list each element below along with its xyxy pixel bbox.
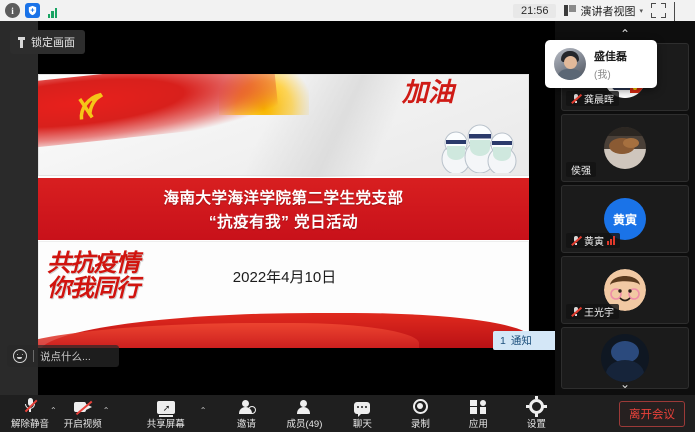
notification-tag[interactable]: 1 通知 xyxy=(493,331,555,350)
calligraphy-artwork: 共抗疫情 你我同行 xyxy=(47,250,185,326)
system-tray: i xyxy=(0,3,60,18)
participant-nameplate: 黄寅 xyxy=(566,233,620,248)
participants-icon xyxy=(296,398,312,414)
scroll-down-icon[interactable]: ⌄ xyxy=(612,377,638,391)
clock: 21:56 xyxy=(513,4,557,18)
video-options-caret-icon[interactable]: ⌃ xyxy=(103,406,110,415)
shield-icon[interactable] xyxy=(25,3,40,18)
toolbar-center-group: ➚ 共享屏幕 ⌃ 邀请 成员(49) 聊天 xyxy=(144,398,559,430)
self-participant-tooltip: 盛佳磊 (我) xyxy=(545,40,657,88)
share-screen-label: 共享屏幕 xyxy=(147,416,185,430)
participants-button[interactable]: 成员(49) xyxy=(282,398,326,430)
avatar xyxy=(604,127,646,169)
slide-title-band: 海南大学海洋学院第二学生党支部 “抗疫有我” 党日活动 xyxy=(38,178,529,240)
participant-tile[interactable]: 王光宇 xyxy=(561,256,689,324)
chat-label: 聊天 xyxy=(353,416,372,430)
top-system-bar: i 21:56 演讲者视图 ▾ xyxy=(0,0,695,21)
participant-name: 黄寅 xyxy=(584,233,604,248)
invite-button[interactable]: 邀请 xyxy=(224,398,268,430)
notification-label: 通知 xyxy=(511,333,532,348)
toolbar-left-group: 解除静音 ⌃ 开启视频 ⌃ xyxy=(0,398,113,430)
record-button[interactable]: 录制 xyxy=(398,398,442,430)
slide-title-line-1: 海南大学海洋学院第二学生党支部 xyxy=(163,186,403,208)
settings-label: 设置 xyxy=(527,416,546,430)
presentation-left-rail xyxy=(0,21,38,395)
chat-button[interactable]: 聊天 xyxy=(340,398,384,430)
share-screen-button[interactable]: ➚ 共享屏幕 xyxy=(144,398,188,430)
jiayou-artwork: 加油 xyxy=(400,79,520,175)
participant-tile[interactable]: 侯强 xyxy=(561,114,689,182)
leave-meeting-button[interactable]: 离开会议 xyxy=(619,401,685,427)
dark-photo-avatar-icon xyxy=(601,334,649,382)
start-video-label: 开启视频 xyxy=(64,416,102,430)
self-info: 盛佳磊 (我) xyxy=(594,48,627,81)
share-options-caret-icon[interactable]: ⌃ xyxy=(200,406,207,415)
hammer-sickle-emblem xyxy=(73,89,115,125)
participant-nameplate: 侯强 xyxy=(566,162,596,177)
lock-screen-label: 锁定画面 xyxy=(31,34,75,50)
avatar-initials: 黄寅 xyxy=(613,211,637,228)
apps-label: 应用 xyxy=(469,416,488,430)
quick-chat-placeholder: 说点什么... xyxy=(40,349,91,364)
record-icon xyxy=(413,398,428,414)
slide-header-banner: 加油 xyxy=(38,74,529,176)
shared-screen-stage[interactable]: 锁定画面 加油 xyxy=(0,21,555,395)
camera-muted-icon xyxy=(74,398,92,414)
mic-muted-icon xyxy=(571,306,581,317)
participant-name: 侯强 xyxy=(571,162,591,177)
top-bar-right: 21:56 演讲者视图 ▾ xyxy=(513,3,695,19)
record-label: 录制 xyxy=(411,416,430,430)
audio-options-caret-icon[interactable]: ⌃ xyxy=(50,406,57,415)
speaker-view-icon xyxy=(564,5,576,16)
apps-button[interactable]: 应用 xyxy=(456,398,500,430)
unmute-button[interactable]: 解除静音 xyxy=(8,398,52,430)
mic-muted-icon xyxy=(24,398,37,414)
room-photo-avatar-icon xyxy=(604,127,646,169)
participant-tile[interactable]: 黄寅 黄寅 xyxy=(561,185,689,253)
weak-signal-icon xyxy=(607,236,615,245)
mic-muted-icon xyxy=(571,235,581,246)
slide-body: 共抗疫情 你我同行 2022年4月10日 xyxy=(38,241,529,348)
participant-nameplate: 王光宇 xyxy=(566,304,619,319)
pin-icon xyxy=(17,37,26,48)
participant-name: 龚晨晖 xyxy=(584,91,614,106)
divider xyxy=(33,350,34,362)
meeting-toolbar: 解除静音 ⌃ 开启视频 ⌃ ➚ 共享屏幕 ⌃ xyxy=(0,395,695,432)
notification-count: 1 xyxy=(500,335,506,347)
lock-screen-button[interactable]: 锁定画面 xyxy=(10,30,85,54)
meeting-window: i 21:56 演讲者视图 ▾ 锁定画面 xyxy=(0,0,695,432)
jiayou-text: 加油 xyxy=(402,81,454,106)
slide-title-line-2: “抗疫有我” 党日活动 xyxy=(209,210,358,232)
participant-nameplate: 龚晨晖 xyxy=(566,91,619,106)
shared-slide: 加油 xyxy=(38,74,529,348)
side-panel-icon[interactable] xyxy=(674,3,689,18)
gear-icon xyxy=(529,398,544,414)
view-mode-label: 演讲者视图 xyxy=(580,3,635,19)
self-me-tag: (我) xyxy=(594,66,627,81)
mic-muted-icon xyxy=(571,93,581,104)
share-screen-icon: ➚ xyxy=(157,398,175,414)
fullscreen-icon[interactable] xyxy=(651,3,666,18)
slide-date: 2022年4月10日 xyxy=(39,266,529,287)
view-mode-selector[interactable]: 演讲者视图 ▾ xyxy=(564,3,643,19)
start-video-button[interactable]: 开启视频 xyxy=(61,398,105,430)
medical-workers-illustration xyxy=(432,113,518,173)
chevron-down-icon: ▾ xyxy=(639,7,643,15)
info-icon[interactable]: i xyxy=(5,3,20,18)
self-name: 盛佳磊 xyxy=(594,48,627,64)
apps-grid-icon xyxy=(470,398,486,414)
emoji-icon[interactable] xyxy=(13,349,27,363)
unmute-label: 解除静音 xyxy=(11,416,49,430)
scroll-up-icon[interactable]: ⌃ xyxy=(612,27,638,41)
invite-label: 邀请 xyxy=(237,416,256,430)
settings-button[interactable]: 设置 xyxy=(514,398,558,430)
chat-bubble-icon xyxy=(354,398,370,414)
quick-chat-input[interactable]: 说点什么... xyxy=(7,345,119,367)
participants-label: 成员(49) xyxy=(286,416,322,430)
avatar xyxy=(554,48,586,80)
invite-person-icon xyxy=(238,398,254,414)
signal-bars-icon[interactable] xyxy=(45,3,60,18)
participant-name: 王光宇 xyxy=(584,304,614,319)
avatar xyxy=(601,334,649,382)
